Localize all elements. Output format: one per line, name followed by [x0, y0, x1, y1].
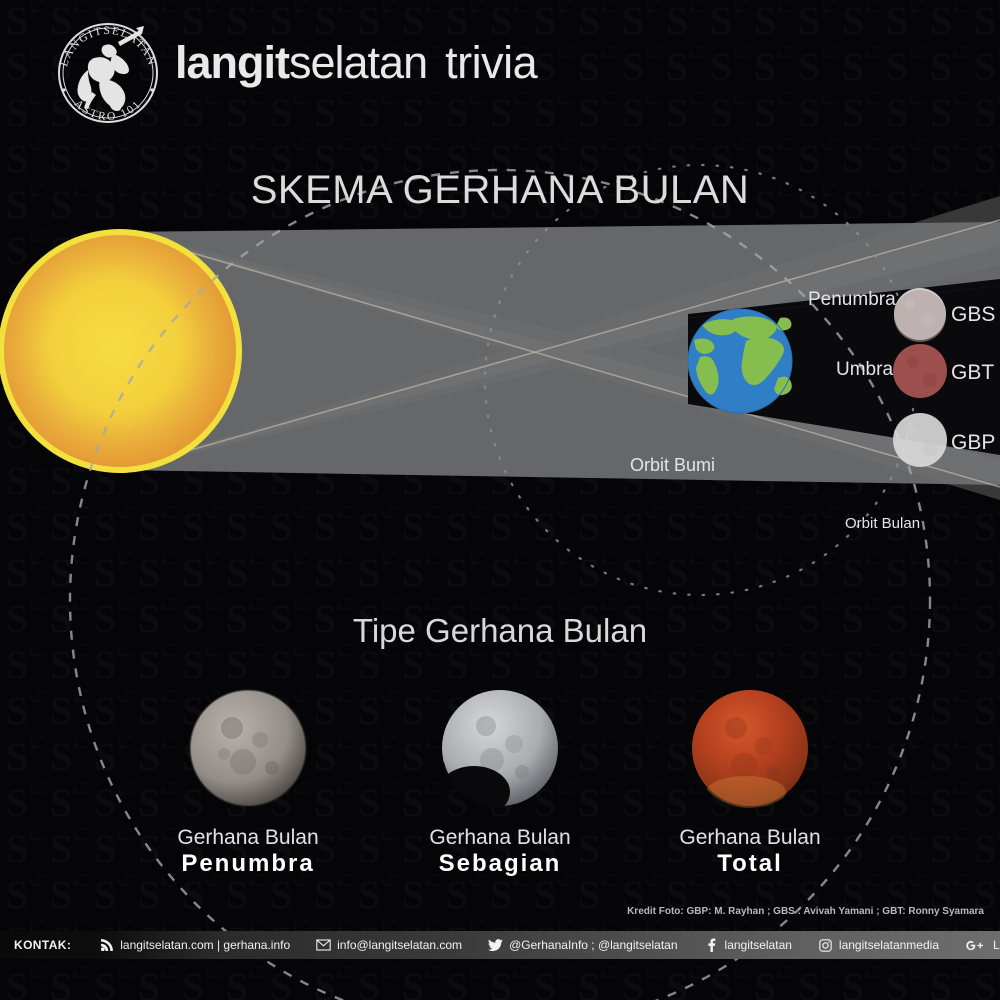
footer-item-website[interactable]: langitselatan.com | gerhana.info [99, 938, 290, 953]
infographic-poster: S S [0, 0, 1000, 1000]
rss-icon [99, 938, 114, 953]
facebook-icon [704, 938, 719, 953]
footer-item-text: langitselatan.com | gerhana.info [120, 938, 290, 952]
envelope-icon [316, 938, 331, 953]
type-caption-top: Gerhana Bulan [138, 826, 358, 850]
brand-selatan: selatan [289, 37, 427, 88]
moon-total-photo [690, 688, 810, 808]
type-card-partial: Gerhana Bulan Sebagian [390, 688, 610, 879]
header: LANGITSELATAN ASTRO 101 langitselatantri… [0, 0, 1000, 140]
label-umbra: Umbra [836, 359, 893, 380]
brand-trivia: trivia [445, 37, 537, 88]
label-gbp: GBP [951, 431, 995, 454]
footer-label: KONTAK: [14, 938, 71, 952]
schematic-moon-gbp [893, 413, 947, 467]
footer-item-googleplus[interactable]: LangitselatanMedia [965, 938, 1000, 953]
label-gbs: GBS [951, 303, 995, 326]
type-card-total: Gerhana Bulan Total [640, 688, 860, 879]
footer-item-twitter[interactable]: @GerhanaInfo ; @langitselatan [488, 938, 677, 953]
footer-item-email[interactable]: info@langitselatan.com [316, 938, 462, 953]
label-orbit-bumi: Orbit Bumi [630, 455, 715, 475]
type-caption-top: Gerhana Bulan [640, 826, 860, 850]
footer-item-facebook[interactable]: langitselatan [704, 938, 792, 953]
footer-item-text: @GerhanaInfo ; @langitselatan [509, 938, 677, 952]
footer-item-text: LangitselatanMedia [993, 938, 1000, 952]
brand-langit: langit [175, 37, 289, 88]
langitselatan-logo[interactable]: LANGITSELATAN ASTRO 101 [48, 18, 168, 128]
footer-item-text: info@langitselatan.com [337, 938, 462, 952]
googleplus-icon [965, 938, 987, 953]
type-caption-bottom: Penumbra [138, 850, 358, 879]
brand-title: langitselatantrivia [175, 40, 537, 85]
footer-item-instagram[interactable]: langitselatanmedia [818, 938, 939, 953]
moon-penumbral-photo [188, 688, 308, 808]
photo-credit: Kredit Foto: GBP: M. Rayhan ; GBS : Aviv… [627, 906, 984, 917]
label-orbit-bulan: Orbit Bulan [845, 515, 920, 532]
footer-item-text: langitselatanmedia [839, 938, 939, 952]
moon-partial-photo [440, 688, 560, 808]
page-title: SKEMA GERHANA BULAN [0, 168, 1000, 213]
type-card-penumbra: Gerhana Bulan Penumbra [138, 688, 358, 879]
schematic-moon-gbs [894, 288, 946, 342]
label-gbt: GBT [951, 361, 994, 384]
earth [688, 309, 792, 413]
type-caption-bottom: Sebagian [390, 850, 610, 879]
instagram-icon [818, 938, 833, 953]
twitter-icon [488, 938, 503, 953]
footer-item-text: langitselatan [725, 938, 792, 952]
label-penumbra: Penumbra [808, 289, 896, 310]
type-caption-bottom: Total [640, 850, 860, 879]
section-title-types: Tipe Gerhana Bulan [0, 612, 1000, 650]
schematic-moon-gbt [893, 344, 947, 398]
contact-footer: KONTAK: langitselatan.com | gerhana.info… [0, 931, 1000, 959]
type-caption-top: Gerhana Bulan [390, 826, 610, 850]
